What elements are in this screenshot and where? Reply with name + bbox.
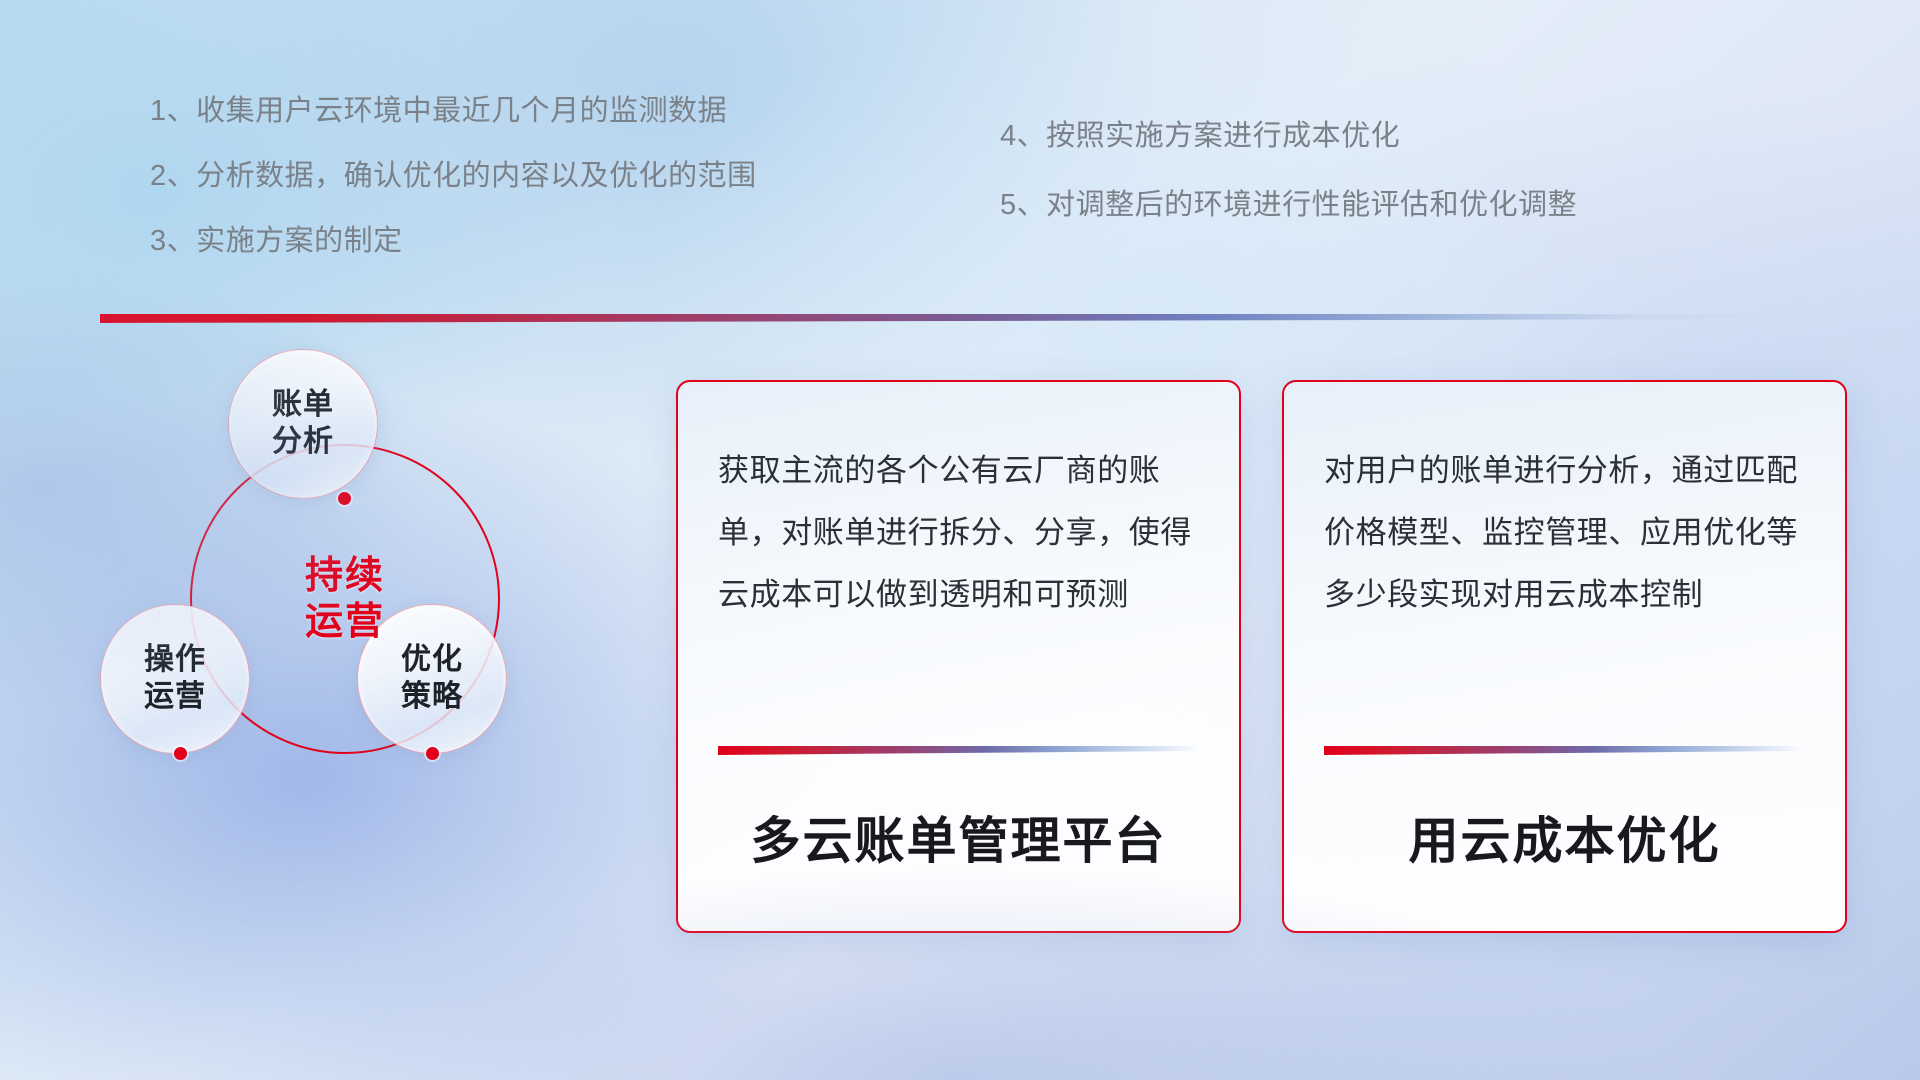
divider-bar <box>100 314 1820 323</box>
section-divider <box>100 314 1820 323</box>
connector-dot-top <box>338 492 351 505</box>
venn-bubble-operation-ops[interactable]: 操作 运营 <box>100 604 250 754</box>
step-item-4: 4、按照实施方案进行成本优化 <box>1000 122 1577 151</box>
venn-bubble-label: 操作 运营 <box>144 642 206 715</box>
card-accent-rule <box>718 746 1199 755</box>
venn-center-line1: 持续 <box>305 555 385 597</box>
venn-bubble-line2: 策略 <box>401 680 463 713</box>
card-title: 多云账单管理平台 <box>718 801 1199 873</box>
venn-center-label: 持续 运营 <box>255 524 435 674</box>
venn-bubble-line1: 操作 <box>144 643 206 676</box>
venn-diagram: 账单 分析 操作 运营 优化 策略 持续 运营 <box>95 352 565 822</box>
step-item-2: 2、分析数据，确认优化的内容以及优化的范围 <box>150 162 757 191</box>
steps-left-column: 1、收集用户云环境中最近几个月的监测数据 2、分析数据，确认优化的内容以及优化的… <box>150 97 757 292</box>
venn-bubble-line2: 分析 <box>272 425 334 458</box>
step-item-3: 3、实施方案的制定 <box>150 227 757 256</box>
venn-bubble-line2: 运营 <box>144 680 206 713</box>
card-cloud-cost-optimization[interactable]: 对用户的账单进行分析，通过匹配价格模型、监控管理、应用优化等多少段实现对用云成本… <box>1282 380 1847 933</box>
step-item-1: 1、收集用户云环境中最近几个月的监测数据 <box>150 97 757 126</box>
connector-dot-right <box>426 747 439 760</box>
venn-bubble-line1: 账单 <box>272 388 334 421</box>
card-accent-rule <box>1324 746 1805 755</box>
slide-canvas: 1、收集用户云环境中最近几个月的监测数据 2、分析数据，确认优化的内容以及优化的… <box>0 0 1920 1080</box>
steps-right-column: 4、按照实施方案进行成本优化 5、对调整后的环境进行性能评估和优化调整 <box>1000 122 1577 260</box>
card-multi-cloud-bill-platform[interactable]: 获取主流的各个公有云厂商的账单，对账单进行拆分、分享，使得云成本可以做到透明和可… <box>676 380 1241 933</box>
step-item-5: 5、对调整后的环境进行性能评估和优化调整 <box>1000 191 1577 220</box>
venn-center-line2: 运营 <box>305 601 385 643</box>
card-body-text: 对用户的账单进行分析，通过匹配价格模型、监控管理、应用优化等多少段实现对用云成本… <box>1324 440 1805 694</box>
card-title: 用云成本优化 <box>1324 801 1805 873</box>
connector-dot-left <box>174 747 187 760</box>
venn-bubble-bill-analysis[interactable]: 账单 分析 <box>228 349 378 499</box>
venn-bubble-label: 账单 分析 <box>272 387 334 460</box>
card-body-text: 获取主流的各个公有云厂商的账单，对账单进行拆分、分享，使得云成本可以做到透明和可… <box>718 440 1199 694</box>
